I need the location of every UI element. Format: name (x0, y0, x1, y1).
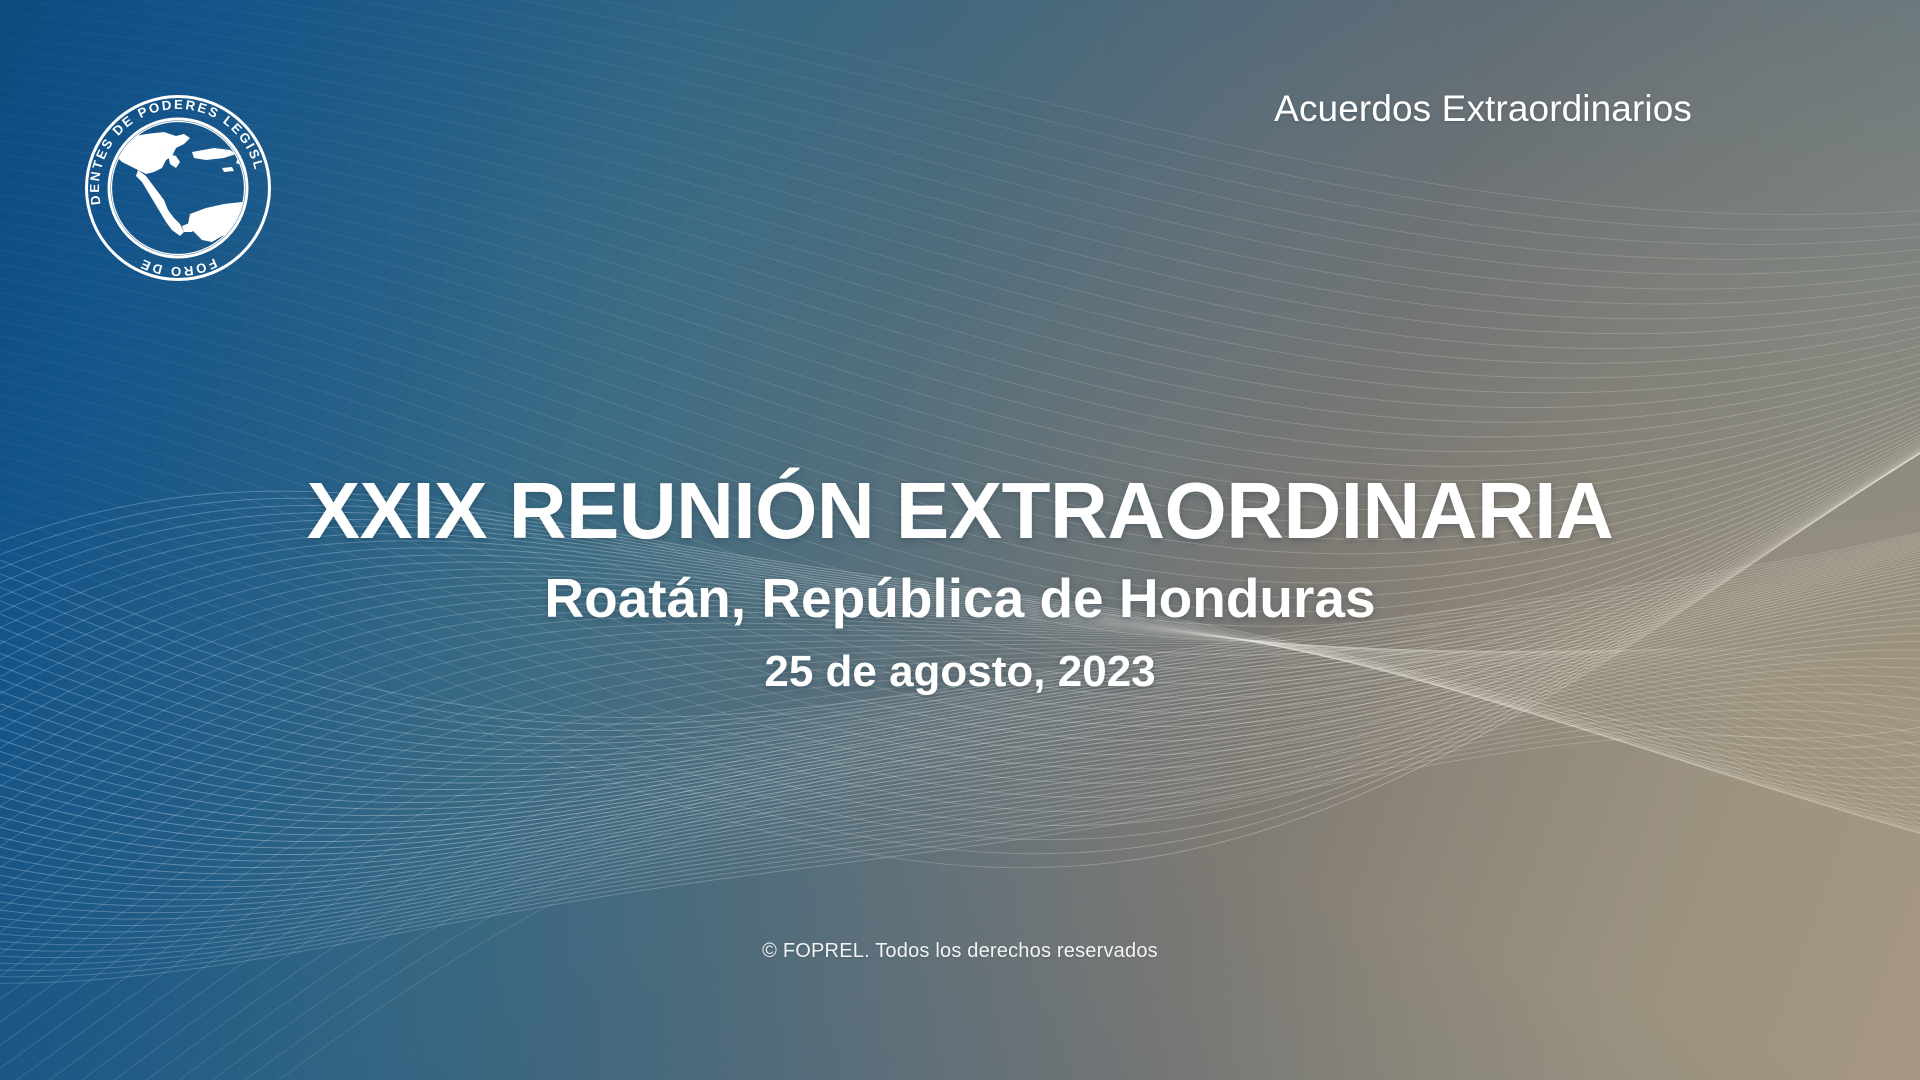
title-block: XXIX REUNIÓN EXTRAORDINARIA Roatán, Repú… (0, 470, 1920, 696)
header-label: Acuerdos Extraordinarios (1274, 88, 1692, 130)
subtitle-date: 25 de agosto, 2023 (0, 647, 1920, 696)
presentation-slide: PRESIDENTES DE PODERES LEGISLATIVOS FORO… (0, 0, 1920, 1080)
footer-copyright: © FOPREL. Todos los derechos reservados (0, 940, 1920, 963)
page-title: XXIX REUNIÓN EXTRAORDINARIA (0, 470, 1920, 552)
subtitle-location: Roatán, República de Honduras (0, 568, 1920, 630)
foprel-seal-logo: PRESIDENTES DE PODERES LEGISLATIVOS FORO… (72, 82, 284, 294)
